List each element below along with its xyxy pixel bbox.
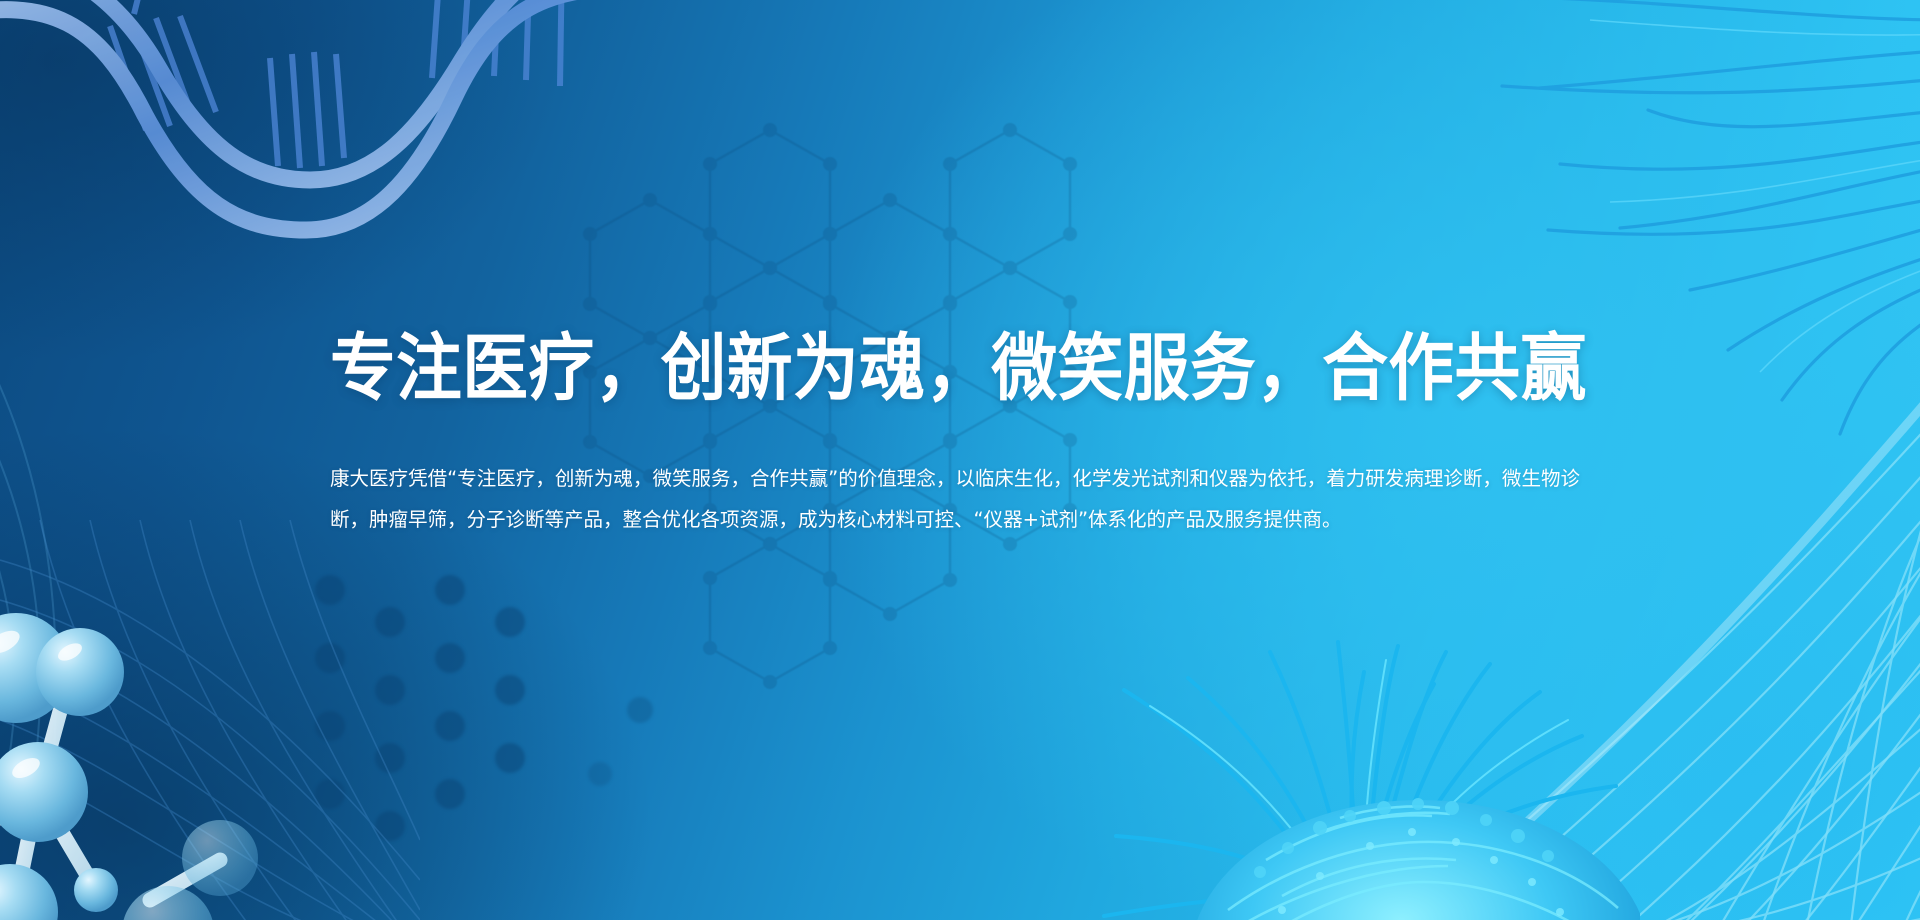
- banner-content: 专注医疗，创新为魂，微笑服务，合作共赢 康大医疗凭借“专注医疗，创新为魂，微笑服…: [330, 330, 1620, 540]
- hero-banner: 专注医疗，创新为魂，微笑服务，合作共赢 康大医疗凭借“专注医疗，创新为魂，微笑服…: [0, 0, 1920, 920]
- banner-description: 康大医疗凭借“专注医疗，创新为魂，微笑服务，合作共赢”的价值理念，以临床生化，化…: [330, 459, 1580, 539]
- molecule-model-graphic: [0, 560, 340, 920]
- dna-helix-graphic: [0, 0, 670, 260]
- microbe-cell-graphic: [1020, 560, 1640, 920]
- banner-headline: 专注医疗，创新为魂，微笑服务，合作共赢: [330, 330, 1491, 407]
